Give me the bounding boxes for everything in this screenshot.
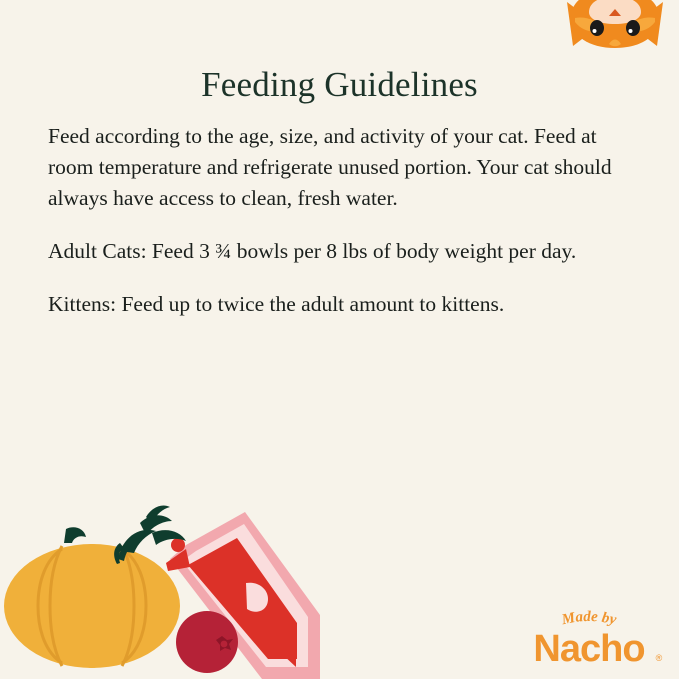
pumpkin-meat-cranberry-icon — [0, 489, 340, 679]
cat-face-icon — [559, 0, 671, 52]
paragraph-kittens: Kittens: Feed up to twice the adult amou… — [48, 289, 636, 320]
logo-trademark-symbol: ® — [656, 653, 663, 663]
page-title: Feeding Guidelines — [0, 65, 679, 105]
feeding-instructions: Feed according to the age, size, and act… — [48, 121, 636, 320]
cranberry-illustration — [176, 611, 238, 673]
pumpkin-illustration — [4, 527, 180, 668]
feeding-guidelines-panel: Feeding Guidelines Feed according to the… — [0, 0, 679, 679]
paragraph-general-feeding: Feed according to the age, size, and act… — [48, 121, 636, 214]
brand-logo: Made by Nacho ® — [513, 603, 665, 665]
paragraph-adult-cats: Adult Cats: Feed 3 ¾ bowls per 8 lbs of … — [48, 236, 636, 267]
herb-illustration — [114, 505, 186, 564]
logo-made-by-text: Made by — [559, 609, 618, 629]
logo-brand-text: Nacho — [533, 628, 644, 665]
meat-illustration — [166, 512, 320, 679]
